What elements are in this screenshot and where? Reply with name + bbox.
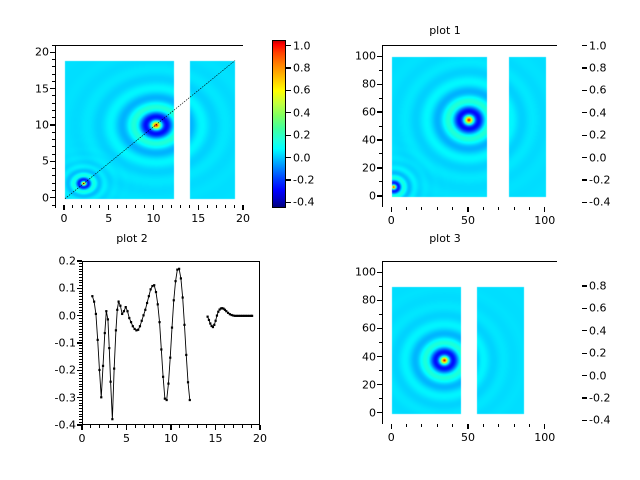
x-minor-tickmark [483,207,484,210]
colorbar-tick-label: 0.8 [589,280,607,293]
panel-bottom-left-lineplot [83,262,261,426]
x-minor-tickmark [467,424,468,427]
x-minor-tickmark [126,425,127,428]
y-minor-tickmark [79,405,82,406]
x-minor-tickmark [179,425,180,428]
x-minor-tickmark [452,207,453,210]
y-minor-tickmark [52,117,55,118]
x-minor-tickmark [162,425,163,428]
y-minor-tickmark [52,168,55,169]
x-minor-tickmark [391,424,392,427]
panel-top-left-axes[interactable] [55,45,243,205]
y-minor-tickmark [52,125,55,126]
y-minor-tickmark [52,139,55,140]
y-tick-label: 100 [344,50,376,63]
x-minor-tickmark [171,425,172,428]
y-tick-label: 20 [344,378,376,391]
x-minor-tickmark [90,205,91,208]
y-minor-tickmark [52,110,55,111]
y-minor-tickmark [79,321,82,322]
x-tick-label: 100 [534,214,555,227]
x-minor-tickmark [135,205,136,208]
x-minor-tickmark [188,425,189,428]
y-minor-tickmark [79,318,82,319]
panel-top-right-heatmap [383,46,558,208]
y-minor-tickmark [52,154,55,155]
x-minor-tickmark [197,425,198,428]
y-minor-tickmark [79,348,82,349]
y-tick-label: 0.0 [44,309,76,322]
y-minor-tickmark [79,277,82,278]
y-minor-tickmark [379,286,382,287]
colorbar-tickmark [286,202,291,203]
x-minor-tickmark [207,205,208,208]
y-minor-tickmark [79,389,82,390]
colorbar-tickmark [582,179,587,180]
x-minor-tickmark [498,424,499,427]
y-minor-tickmark [379,126,382,127]
y-tick-label: -0.2 [44,364,76,377]
x-tick-label: 10 [164,432,178,445]
x-tick-label: 15 [209,432,223,445]
x-minor-tickmark [162,205,163,208]
y-minor-tickmark [52,175,55,176]
y-minor-tickmark [79,353,82,354]
y-minor-tickmark [79,291,82,292]
y-tick-label: -0.4 [44,419,76,432]
y-minor-tickmark [79,310,82,311]
y-minor-tickmark [79,266,82,267]
colorbar-tickmark [582,285,587,286]
y-minor-tickmark [79,394,82,395]
x-minor-tickmark [452,424,453,427]
colorbar-tickmark [582,112,587,113]
colorbar-tick-label: 0.4 [589,106,607,119]
x-tick-label: 10 [146,212,160,225]
colorbar-tickmark [582,308,587,309]
panel-top-left-overlay-line [56,46,244,206]
y-minor-tickmark [79,364,82,365]
panel-bottom-right-axes[interactable] [382,261,557,424]
y-minor-tickmark [79,378,82,379]
x-minor-tickmark [406,424,407,427]
y-minor-tickmark [79,296,82,297]
x-minor-tickmark [251,425,252,428]
y-minor-tickmark [79,386,82,387]
colorbar-tick-label: 0.2 [589,347,607,360]
x-minor-tickmark [391,207,392,210]
y-minor-tickmark [79,288,82,289]
colorbar-tick-label: -0.4 [589,196,610,209]
y-tick-label: 20 [344,161,376,174]
x-tick-label: 0 [388,214,395,227]
x-tick-label: 100 [534,431,555,444]
y-minor-tickmark [379,314,382,315]
y-minor-tickmark [379,181,382,182]
y-minor-tickmark [79,397,82,398]
colorbar-tickmark [582,397,587,398]
y-minor-tickmark [79,332,82,333]
panel-bottom-left-axes[interactable] [82,261,260,425]
colorbar-tick-label: 0.0 [589,369,607,382]
x-tick-label: 5 [123,432,130,445]
x-minor-tickmark [225,205,226,208]
colorbar-tick-label: -0.2 [589,174,610,187]
y-minor-tickmark [79,285,82,286]
y-minor-tickmark [79,343,82,344]
y-minor-tickmark [79,269,82,270]
y-tick-label: 0 [344,406,376,419]
x-tick-label: 0 [388,431,395,444]
x-minor-tickmark [437,424,438,427]
y-minor-tickmark [379,195,382,196]
y-minor-tickmark [379,342,382,343]
x-minor-tickmark [117,205,118,208]
x-minor-tickmark [467,207,468,210]
x-minor-tickmark [514,424,515,427]
y-minor-tickmark [79,408,82,409]
x-minor-tickmark [529,207,530,210]
x-minor-tickmark [406,207,407,210]
colorbar-tick-label: 0.6 [589,84,607,97]
y-tick-label: 10 [17,119,49,132]
y-minor-tickmark [79,359,82,360]
colorbar-tick-label: -0.4 [589,414,610,427]
y-minor-tickmark [379,167,382,168]
y-minor-tickmark [52,74,55,75]
y-tick-label: 80 [344,78,376,91]
x-minor-tickmark [260,425,261,428]
y-minor-tickmark [79,282,82,283]
x-tick-label: 0 [79,432,86,445]
x-minor-tickmark [126,205,127,208]
y-tick-label: 20 [17,46,49,59]
x-tick-label: 50 [461,431,475,444]
y-minor-tickmark [79,419,82,420]
panel-top-left: 0510152005101520 1.00.80.60.40.20.0-0.2-… [0,0,320,240]
colorbar-tickmark [582,67,587,68]
panel-bottom-right-title: plot 3 [285,232,605,245]
x-tick-label: 15 [191,212,205,225]
colorbar-tickmark [286,157,291,158]
y-tick-label: 40 [344,133,376,146]
y-minor-tickmark [79,337,82,338]
y-minor-tickmark [79,274,82,275]
y-minor-tickmark [52,52,55,53]
y-minor-tickmark [79,334,82,335]
colorbar-tickmark [286,112,291,113]
colorbar-tickmark [286,135,291,136]
x-minor-tickmark [437,207,438,210]
y-minor-tickmark [79,307,82,308]
y-minor-tickmark [52,45,55,46]
y-tick-label: 0.1 [44,282,76,295]
y-tick-label: -0.1 [44,337,76,350]
y-minor-tickmark [52,88,55,89]
x-minor-tickmark [421,424,422,427]
panel-top-right-axes[interactable] [382,45,557,207]
colorbar-tickmark [582,353,587,354]
y-minor-tickmark [79,370,82,371]
x-minor-tickmark [215,425,216,428]
panel-bottom-right-heatmap [383,262,558,425]
y-minor-tickmark [79,271,82,272]
colorbar-tick-label: 0.0 [589,151,607,164]
y-minor-tickmark [79,422,82,423]
y-minor-tickmark [79,403,82,404]
x-tick-label: 20 [236,212,250,225]
x-minor-tickmark [171,205,172,208]
x-minor-tickmark [224,425,225,428]
x-tick-label: 0 [60,212,67,225]
x-minor-tickmark [483,424,484,427]
y-minor-tickmark [52,81,55,82]
y-minor-tickmark [379,84,382,85]
x-tick-label: 20 [253,432,267,445]
colorbar-tick-label: -0.2 [293,174,314,187]
panel-bottom-left-title: plot 2 [0,232,292,245]
y-tick-label: -0.3 [44,391,76,404]
y-minor-tickmark [379,356,382,357]
x-minor-tickmark [153,425,154,428]
y-minor-tickmark [79,340,82,341]
panel-bottom-left: plot 2 0.20.10.0-0.1-0.2-0.3-0.405101520 [0,240,320,480]
y-tick-label: 60 [344,106,376,119]
y-tick-label: 0 [344,189,376,202]
x-minor-tickmark [90,425,91,428]
colorbar-tick-label: 0.0 [293,151,311,164]
y-minor-tickmark [79,384,82,385]
y-minor-tickmark [79,323,82,324]
y-minor-tickmark [379,139,382,140]
colorbar-tick-label: 0.8 [293,62,311,75]
x-minor-tickmark [108,205,109,208]
x-minor-tickmark [144,425,145,428]
colorbar-tick-label: 0.2 [589,129,607,142]
y-minor-tickmark [52,197,55,198]
x-minor-tickmark [544,424,545,427]
y-minor-tickmark [52,190,55,191]
x-minor-tickmark [63,205,64,208]
x-minor-tickmark [243,205,244,208]
y-minor-tickmark [79,326,82,327]
y-minor-tickmark [79,351,82,352]
x-minor-tickmark [544,207,545,210]
y-minor-tickmark [79,299,82,300]
y-minor-tickmark [52,161,55,162]
colorbar-tick-label: 0.4 [293,106,311,119]
y-minor-tickmark [379,370,382,371]
x-minor-tickmark [514,207,515,210]
y-minor-tickmark [79,356,82,357]
colorbar-tick-label: 1.0 [293,39,311,52]
y-tick-label: 60 [344,322,376,335]
colorbar-tickmark [582,90,587,91]
y-minor-tickmark [79,261,82,262]
x-minor-tickmark [206,425,207,428]
y-minor-tickmark [79,302,82,303]
y-minor-tickmark [79,375,82,376]
x-minor-tickmark [198,205,199,208]
x-minor-tickmark [117,425,118,428]
y-minor-tickmark [79,345,82,346]
x-minor-tickmark [99,425,100,428]
y-minor-tickmark [52,132,55,133]
x-minor-tickmark [498,207,499,210]
colorbar-tickmark [286,179,291,180]
y-minor-tickmark [379,328,382,329]
y-minor-tickmark [79,367,82,368]
panel-top-right: plot 1 020406080100050100 1.00.80.60.40.… [320,0,640,240]
colorbar-tickmark [582,420,587,421]
y-minor-tickmark [79,392,82,393]
y-tick-label: 40 [344,350,376,363]
colorbar-gradient [273,41,285,207]
colorbar-tick-label: -0.2 [589,392,610,405]
y-minor-tickmark [379,153,382,154]
y-minor-tickmark [52,146,55,147]
colorbar-tick-label: -0.4 [293,196,314,209]
y-minor-tickmark [379,56,382,57]
colorbar-tickmark [582,375,587,376]
y-tick-label: 80 [344,294,376,307]
x-minor-tickmark [421,207,422,210]
x-minor-tickmark [180,205,181,208]
colorbar-tick-label: 0.6 [293,84,311,97]
x-minor-tickmark [233,425,234,428]
y-minor-tickmark [379,112,382,113]
y-minor-tickmark [79,425,82,426]
y-minor-tickmark [379,272,382,273]
colorbar-tickmark [286,45,291,46]
y-minor-tickmark [79,416,82,417]
y-minor-tickmark [52,103,55,104]
y-minor-tickmark [79,373,82,374]
y-minor-tickmark [79,280,82,281]
x-minor-tickmark [529,424,530,427]
colorbar-tickmark [582,135,587,136]
x-minor-tickmark [144,205,145,208]
y-minor-tickmark [79,411,82,412]
x-minor-tickmark [234,205,235,208]
panel-bottom-right: plot 3 020406080100050100 0.80.60.40.20.… [320,240,640,480]
y-minor-tickmark [379,398,382,399]
y-minor-tickmark [79,263,82,264]
colorbar-tick-label: 1.0 [589,39,607,52]
colorbar-tickmark [582,45,587,46]
y-minor-tickmark [52,66,55,67]
y-tick-label: 5 [17,155,49,168]
x-tick-label: 5 [105,212,112,225]
y-minor-tickmark [52,95,55,96]
y-minor-tickmark [52,183,55,184]
y-minor-tickmark [379,70,382,71]
colorbar-tick-label: 0.2 [293,129,311,142]
y-minor-tickmark [79,362,82,363]
x-minor-tickmark [135,425,136,428]
x-tick-label: 50 [461,214,475,227]
y-minor-tickmark [79,381,82,382]
y-minor-tickmark [79,304,82,305]
y-minor-tickmark [52,59,55,60]
panel-top-left-colorbar [272,40,286,208]
x-minor-tickmark [189,205,190,208]
colorbar-tickmark [286,67,291,68]
y-minor-tickmark [79,312,82,313]
y-minor-tickmark [379,384,382,385]
panel-top-right-title: plot 1 [285,24,605,37]
colorbar-tickmark [286,90,291,91]
x-minor-tickmark [108,425,109,428]
colorbar-tickmark [582,202,587,203]
y-minor-tickmark [52,205,55,206]
y-tick-label: 100 [344,266,376,279]
x-minor-tickmark [153,205,154,208]
y-minor-tickmark [79,293,82,294]
y-minor-tickmark [79,329,82,330]
colorbar-tick-label: 0.4 [589,324,607,337]
x-minor-tickmark [99,205,100,208]
figure-canvas: 0510152005101520 1.00.80.60.40.20.0-0.2-… [0,0,640,480]
y-minor-tickmark [79,414,82,415]
x-minor-tickmark [216,205,217,208]
y-minor-tickmark [379,98,382,99]
colorbar-tick-label: 0.8 [589,62,607,75]
colorbar-tick-label: 0.6 [589,302,607,315]
x-minor-tickmark [242,425,243,428]
colorbar-tickmark [582,330,587,331]
y-tick-label: 15 [17,82,49,95]
y-tick-label: 0 [17,191,49,204]
colorbar-tickmark [582,157,587,158]
y-minor-tickmark [79,315,82,316]
y-minor-tickmark [379,300,382,301]
x-minor-tickmark [81,205,82,208]
x-minor-tickmark [72,205,73,208]
y-minor-tickmark [79,400,82,401]
y-minor-tickmark [379,412,382,413]
y-tick-label: 0.2 [44,255,76,268]
